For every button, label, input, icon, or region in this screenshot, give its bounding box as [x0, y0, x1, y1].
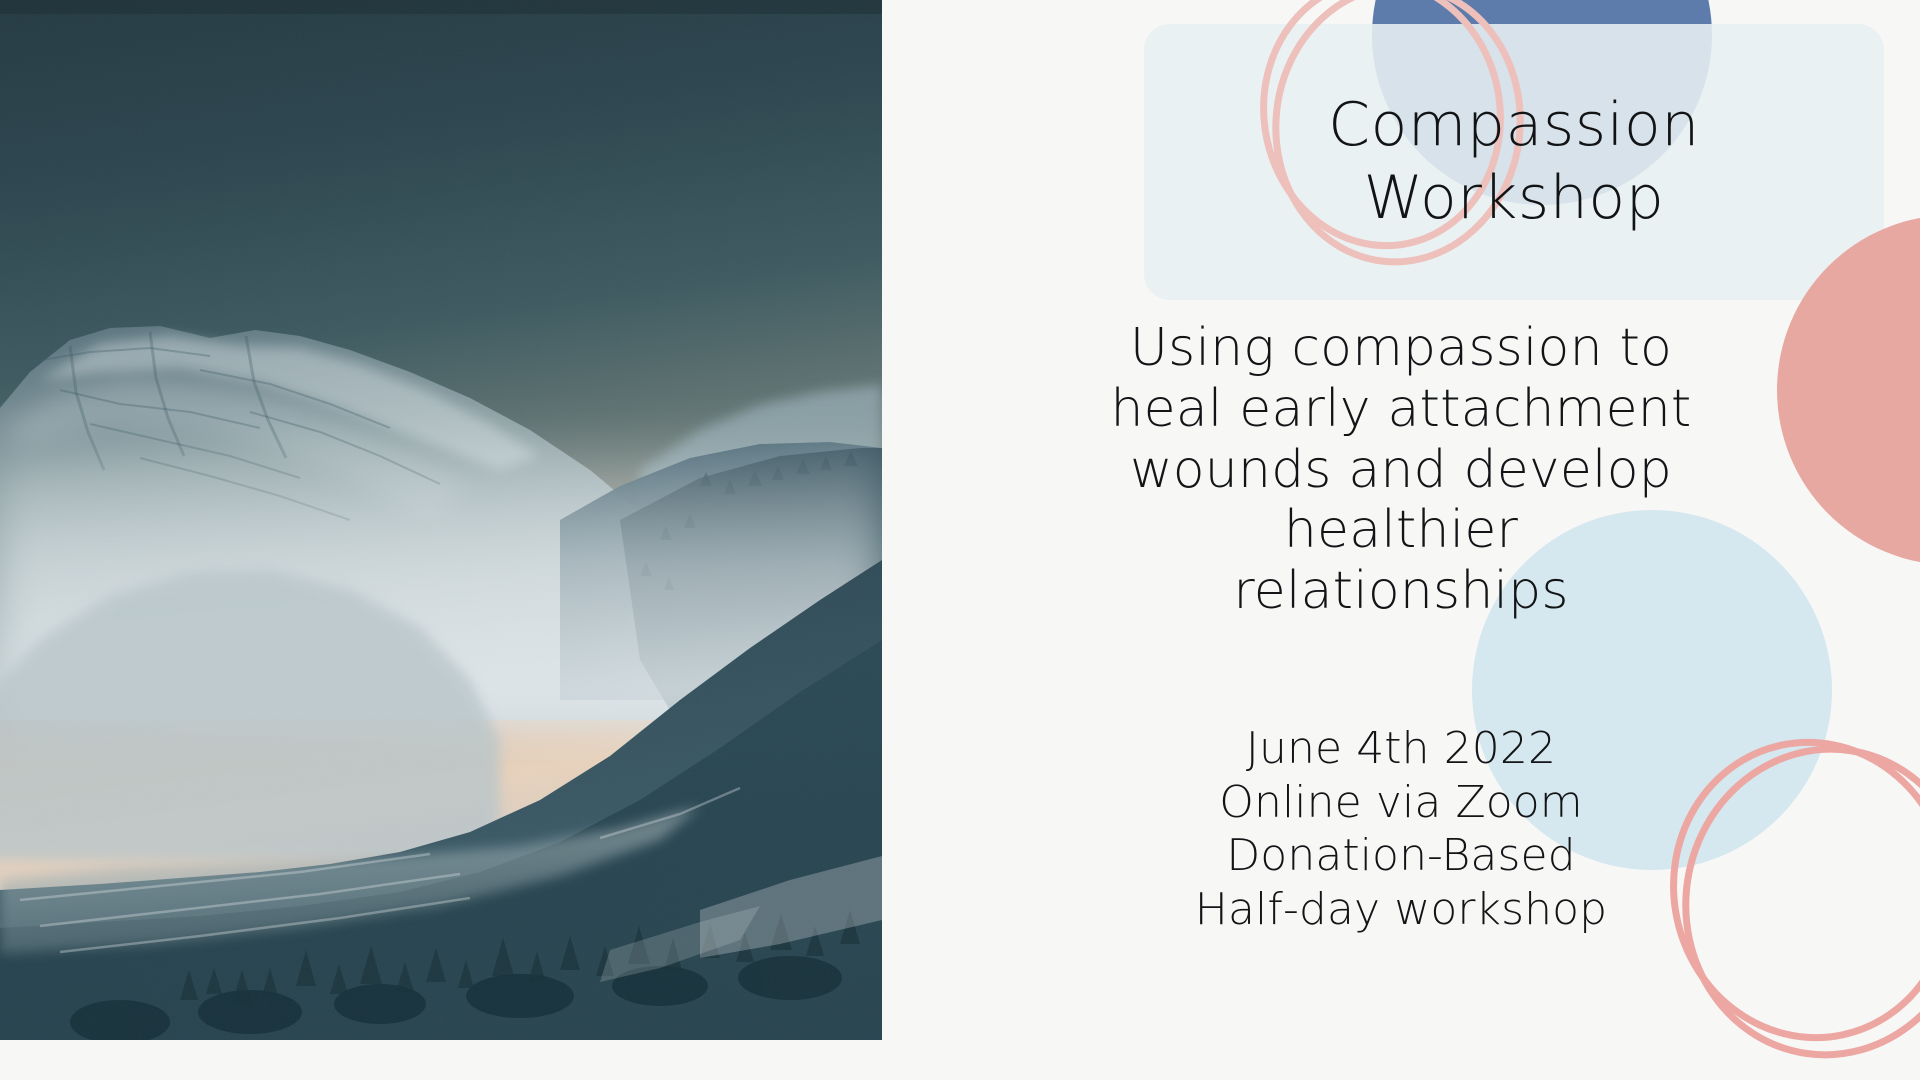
content-column: Compassion Workshop Using compassion to …: [882, 0, 1920, 1080]
detail-duration: Half-day workshop: [982, 883, 1820, 937]
subtitle-line-2: heal early attachment: [982, 379, 1820, 440]
detail-location: Online via Zoom: [982, 776, 1820, 830]
subtitle-line-3: wounds and develop: [982, 440, 1820, 501]
poster-details: June 4th 2022 Online via Zoom Donation-B…: [982, 722, 1820, 937]
detail-pricing: Donation-Based: [982, 829, 1820, 883]
detail-date: June 4th 2022: [982, 722, 1820, 776]
poster-subtitle: Using compassion to heal early attachmen…: [982, 318, 1820, 622]
title-line-1: Compassion: [1328, 89, 1700, 162]
mountain-photograph: [0, 0, 882, 1040]
title-line-2: Workshop: [1364, 162, 1665, 235]
subtitle-line-5: relationships: [982, 561, 1820, 622]
poster-title: Compassion Workshop: [1144, 24, 1884, 300]
mountain-photograph-graphic: [0, 0, 882, 1040]
subtitle-line-1: Using compassion to: [982, 318, 1820, 379]
poster-canvas: Compassion Workshop Using compassion to …: [0, 0, 1920, 1080]
subtitle-line-4: healthier: [982, 500, 1820, 561]
